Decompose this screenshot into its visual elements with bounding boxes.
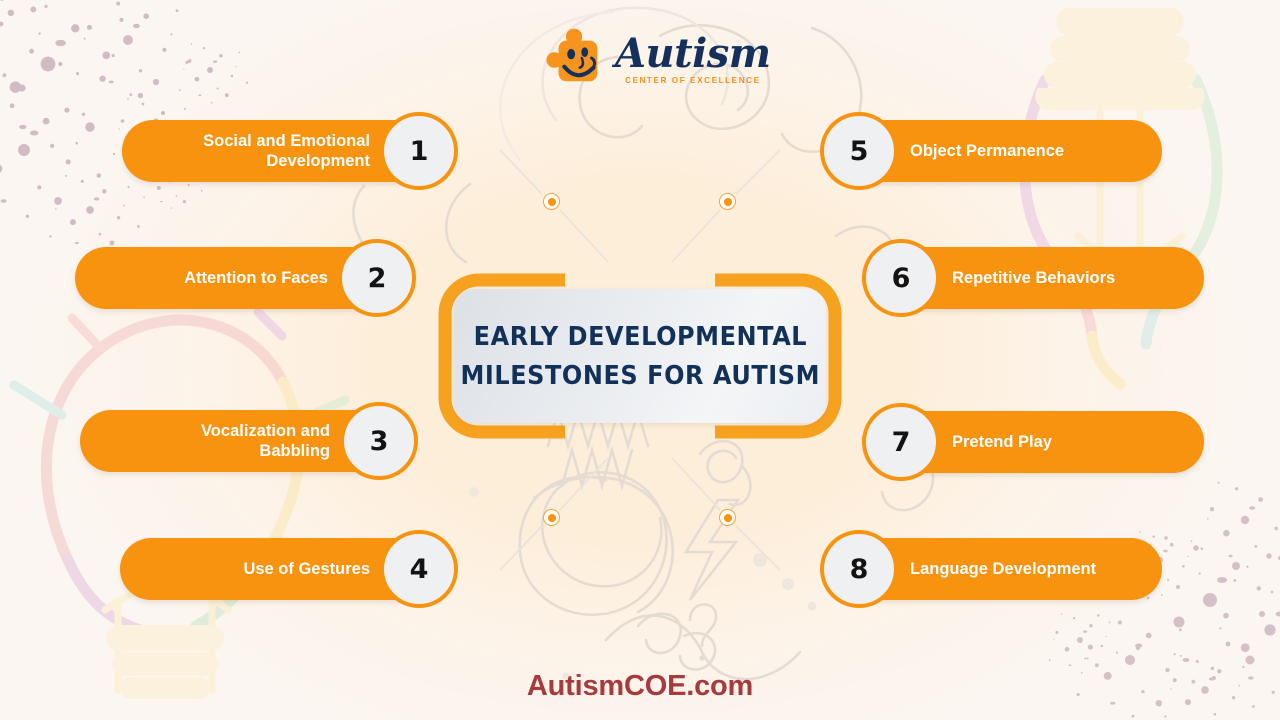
milestone-pill-6[interactable]: Repetitive Behaviors bbox=[894, 247, 1204, 309]
milestone-number-3[interactable]: 3 bbox=[340, 402, 418, 480]
milestone-label-8: Language Development bbox=[910, 559, 1096, 579]
milestone-label-3-line1: Vocalization and bbox=[201, 422, 330, 440]
brand-tagline: CENTER OF EXCELLENCE bbox=[625, 76, 761, 85]
center-title-card: EARLY DEVELOPMENTAL MILESTONES FOR AUTIS… bbox=[437, 272, 843, 440]
milestone-pill-8[interactable]: Language Development bbox=[852, 538, 1162, 600]
milestone-number-4[interactable]: 4 bbox=[380, 530, 458, 608]
milestone-label-1-line2: Development bbox=[266, 152, 370, 170]
title-line-2: MILESTONES FOR AUTISM bbox=[460, 359, 820, 393]
lightbulb-left-decoration bbox=[14, 312, 345, 699]
milestone-pill-5[interactable]: Object Permanence bbox=[852, 120, 1162, 182]
milestone-number-8[interactable]: 8 bbox=[820, 530, 898, 608]
footer-website-url[interactable]: AutismCOE.com bbox=[0, 670, 1280, 703]
milestone-label-3-line2: Babbling bbox=[259, 442, 330, 460]
milestone-label-4: Use of Gestures bbox=[243, 559, 370, 579]
milestone-number-7[interactable]: 7 bbox=[862, 403, 940, 481]
milestone-label-1: Social and Emotional Development bbox=[203, 131, 370, 171]
lightbulb-right-decoration bbox=[1025, 8, 1217, 384]
brand-logo[interactable]: Autism CENTER OF EXCELLENCE bbox=[545, 28, 771, 90]
puzzle-smiley-icon bbox=[545, 28, 607, 90]
milestone-number-5[interactable]: 5 bbox=[820, 112, 898, 190]
title-panel: EARLY DEVELOPMENTAL MILESTONES FOR AUTIS… bbox=[454, 289, 826, 423]
connector-dot-top-left bbox=[543, 193, 560, 210]
title-line-1: EARLY DEVELOPMENTAL bbox=[473, 320, 807, 354]
milestone-number-2[interactable]: 2 bbox=[338, 239, 416, 317]
milestone-label-1-line1: Social and Emotional bbox=[203, 132, 370, 150]
milestone-label-6: Repetitive Behaviors bbox=[952, 268, 1115, 288]
connector-dot-bottom-left bbox=[543, 509, 560, 526]
milestone-pill-7[interactable]: Pretend Play bbox=[894, 411, 1204, 473]
connector-dot-top-right bbox=[719, 193, 736, 210]
milestone-label-7: Pretend Play bbox=[952, 432, 1052, 452]
milestone-label-3: Vocalization and Babbling bbox=[201, 421, 330, 461]
milestone-number-1[interactable]: 1 bbox=[380, 112, 458, 190]
milestone-label-2: Attention to Faces bbox=[184, 268, 328, 288]
milestone-number-6[interactable]: 6 bbox=[862, 239, 940, 317]
connector-dot-bottom-right bbox=[719, 509, 736, 526]
milestone-label-5: Object Permanence bbox=[910, 141, 1064, 161]
infographic-canvas: Autism CENTER OF EXCELLENCE EARLY DEVELO… bbox=[0, 0, 1280, 720]
brand-name: Autism bbox=[615, 33, 771, 75]
